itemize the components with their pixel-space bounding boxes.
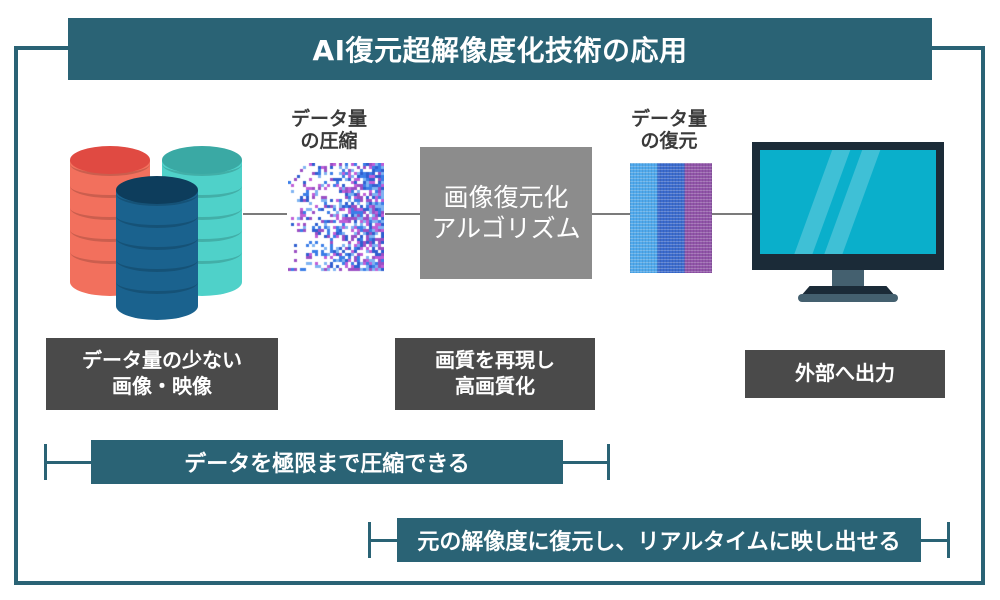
monitor-icon: [752, 142, 944, 302]
compressed-pixel-data-icon: [288, 163, 384, 273]
stage-label-restoration-line1: データ量: [608, 108, 730, 130]
bracket-arm-right: [921, 539, 947, 542]
connector-line-3: [592, 213, 630, 215]
stage-label-compression: データ量 の圧縮: [268, 108, 390, 153]
caption-box-processing: 画質を再現し 高画質化: [395, 338, 595, 410]
bracket-label: 元の解像度に復元し、リアルタイムに映し出せる: [417, 524, 900, 556]
bracket-label-bar: 元の解像度に復元し、リアルタイムに映し出せる: [397, 518, 921, 562]
bracket-arm-left: [371, 539, 397, 542]
monitor-neck: [832, 270, 864, 286]
monitor-bezel: [752, 142, 944, 270]
algorithm-label-line2: アルゴリズム: [431, 213, 580, 244]
monitor-base-bottom: [798, 294, 898, 302]
cylinder-rings: [116, 190, 198, 306]
bracket-label: データを極限まで圧縮できる: [184, 446, 470, 478]
stage-label-restoration-line2: の復元: [608, 130, 730, 152]
diagram-title-banner: AI復元超解像度化技術の応用: [68, 18, 932, 80]
caption-box-output: 外部へ出力: [745, 350, 945, 398]
bracket-tick-right: [947, 522, 950, 558]
restored-pixel-data-icon: [630, 163, 712, 273]
bracket-label-bar: データを極限まで圧縮できる: [91, 440, 563, 484]
stage-label-compression-line1: データ量: [268, 108, 390, 130]
caption-line1: 画質を再現し: [435, 348, 555, 374]
bracket-tick-right: [607, 444, 610, 480]
database-stack-icon: [70, 138, 250, 320]
diagram-canvas: AI復元超解像度化技術の応用 データ量 の圧縮 データ量 の復元: [0, 0, 1000, 600]
caption-line1: データ量の少ない: [82, 348, 242, 374]
page-title: AI復元超解像度化技術の応用: [312, 29, 687, 69]
bracket-arm-right: [563, 461, 607, 464]
cylinder-top: [116, 176, 198, 204]
bracket-arm-left: [47, 461, 91, 464]
caption-line1: 外部へ出力: [795, 361, 895, 387]
stage-label-compression-line2: の圧縮: [268, 130, 390, 152]
caption-box-input-data: データ量の少ない 画像・映像: [46, 338, 278, 410]
algorithm-box: 画像復元化 アルゴリズム: [420, 147, 592, 279]
caption-line2: 高画質化: [455, 374, 535, 400]
caption-line2: 画像・映像: [112, 374, 212, 400]
algorithm-label-line1: 画像復元化: [443, 182, 568, 213]
database-cylinder-navy: [116, 176, 198, 320]
stage-label-restoration: データ量 の復元: [608, 108, 730, 153]
cylinder-top: [70, 146, 150, 174]
cylinder-top: [162, 146, 242, 174]
monitor-screen: [760, 150, 936, 254]
connector-line-2: [385, 213, 420, 215]
bracket-compression-benefit: データを極限まで圧縮できる: [44, 440, 610, 484]
bracket-restoration-benefit: 元の解像度に復元し、リアルタイムに映し出せる: [368, 518, 950, 562]
